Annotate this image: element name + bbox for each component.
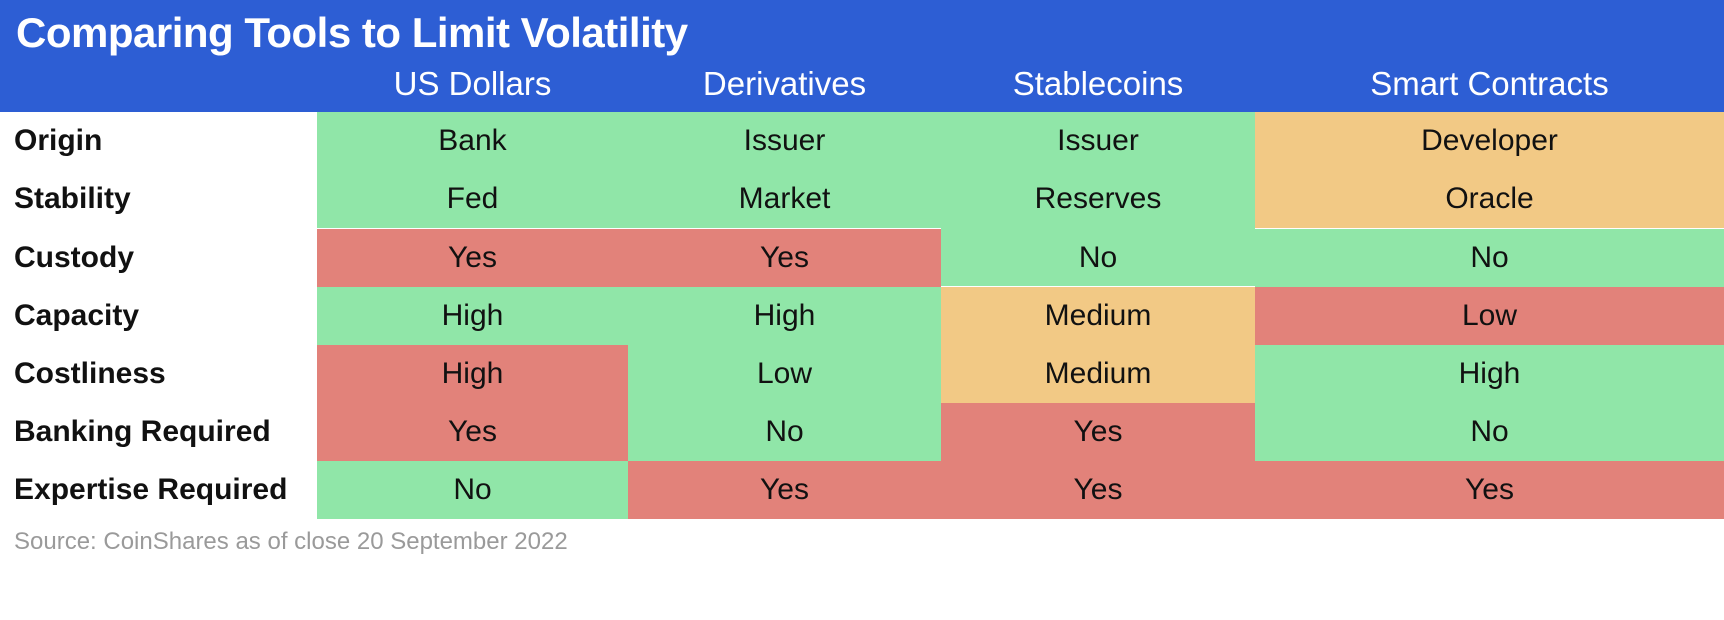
row-label-costliness: Costliness xyxy=(14,345,314,403)
cell-costliness-smart-contracts: High xyxy=(1255,345,1724,403)
cell-banking-required-derivatives: No xyxy=(628,403,941,461)
cell-banking-required-us-dollars: Yes xyxy=(317,403,628,461)
row-label-expertise-required: Expertise Required xyxy=(14,461,314,519)
infographic-root: Comparing Tools to Limit Volatility US D… xyxy=(0,0,1724,620)
cell-origin-us-dollars: Bank xyxy=(317,112,628,170)
row-label-custody: Custody xyxy=(14,229,314,287)
cell-origin-derivatives: Issuer xyxy=(628,112,941,170)
cell-costliness-us-dollars: High xyxy=(317,345,628,403)
cell-expertise-required-derivatives: Yes xyxy=(628,461,941,519)
cell-origin-smart-contracts: Developer xyxy=(1255,112,1724,170)
row-label-banking-required: Banking Required xyxy=(14,403,314,461)
cell-capacity-us-dollars: High xyxy=(317,287,628,345)
row-label-origin: Origin xyxy=(14,112,314,170)
cell-custody-us-dollars: Yes xyxy=(317,229,628,287)
page-title: Comparing Tools to Limit Volatility xyxy=(16,4,688,62)
comparison-table: OriginStabilityCustodyCapacityCostliness… xyxy=(0,112,1724,518)
cell-expertise-required-us-dollars: No xyxy=(317,461,628,519)
cell-stability-smart-contracts: Oracle xyxy=(1255,170,1724,228)
cell-custody-smart-contracts: No xyxy=(1255,229,1724,287)
source-note: Source: CoinShares as of close 20 Septem… xyxy=(14,528,568,556)
cell-banking-required-smart-contracts: No xyxy=(1255,403,1724,461)
cell-stability-derivatives: Market xyxy=(628,170,941,228)
cell-banking-required-stablecoins: Yes xyxy=(941,403,1255,461)
cell-capacity-smart-contracts: Low xyxy=(1255,287,1724,345)
cell-origin-stablecoins: Issuer xyxy=(941,112,1255,170)
cell-expertise-required-stablecoins: Yes xyxy=(941,461,1255,519)
cell-expertise-required-smart-contracts: Yes xyxy=(1255,461,1724,519)
cell-custody-derivatives: Yes xyxy=(628,229,941,287)
column-header-us-dollars: US Dollars xyxy=(317,62,628,106)
column-header-stablecoins: Stablecoins xyxy=(941,62,1255,106)
cell-capacity-derivatives: High xyxy=(628,287,941,345)
column-header-derivatives: Derivatives xyxy=(628,62,941,106)
cell-capacity-stablecoins: Medium xyxy=(941,287,1255,345)
cell-custody-stablecoins: No xyxy=(941,229,1255,287)
cell-costliness-derivatives: Low xyxy=(628,345,941,403)
cell-stability-stablecoins: Reserves xyxy=(941,170,1255,228)
cell-costliness-stablecoins: Medium xyxy=(941,345,1255,403)
row-label-stability: Stability xyxy=(14,170,314,228)
cell-stability-us-dollars: Fed xyxy=(317,170,628,228)
column-header-smart-contracts: Smart Contracts xyxy=(1255,62,1724,106)
row-label-capacity: Capacity xyxy=(14,287,314,345)
